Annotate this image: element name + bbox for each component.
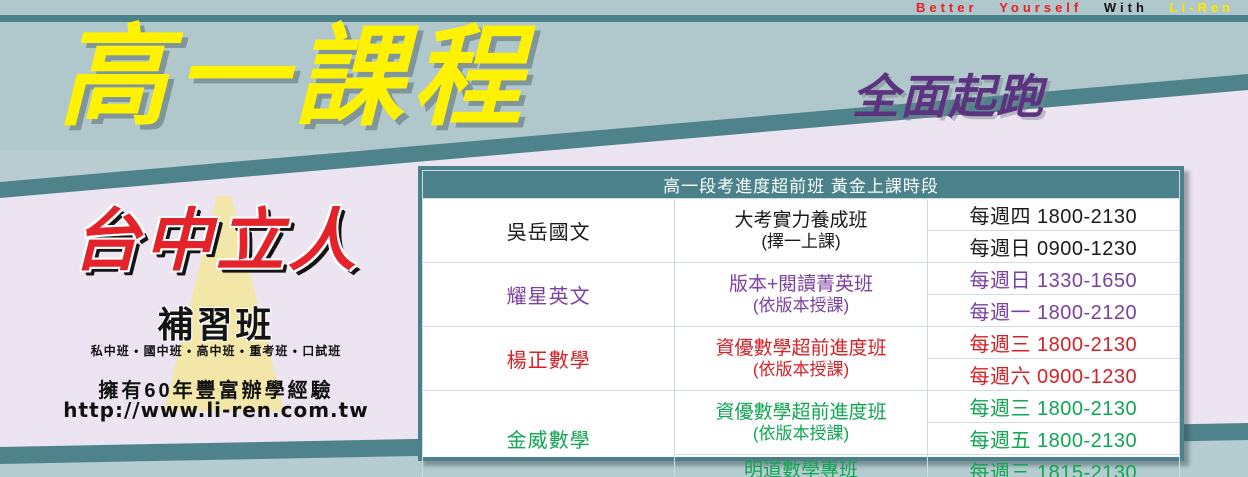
schedule-table-frame: 高一段考進度超前班 黃金上課時段 吳岳國文 大考實力養成班 (擇一上課) 每週四… (418, 166, 1184, 461)
poster-canvas: Better Yourself With Li-Ren 高一課程 全面起跑 台中… (0, 0, 1248, 477)
cell-time: 每週三 1800-2130 (927, 391, 1179, 423)
cell-course: 資優數學超前進度班 (依版本授課) (675, 327, 927, 391)
logo: 台中立人 補習班 私中班 • 國中班 • 高中班 • 重考班 • 口試班 擁有6… (36, 196, 396, 426)
logo-brand-name: 台中立人 (36, 206, 396, 277)
cell-teacher: 耀星英文 (423, 263, 675, 327)
tagline-word-with: With (1104, 0, 1148, 15)
cell-time: 每週一 1800-2120 (927, 295, 1179, 327)
course-note: (依版本授課) (676, 360, 925, 380)
table-header-title: 高一段考進度超前班 黃金上課時段 (423, 171, 1180, 199)
course-note: (依版本授課) (676, 296, 925, 316)
course-name: 版本+閱讀菁英班 (729, 274, 873, 295)
table-row: 耀星英文 版本+閱讀菁英班 (依版本授課) 每週日 1330-1650 (423, 263, 1180, 295)
table-row: 金威數學 資優數學超前進度班 (依版本授課) 每週三 1800-2130 (423, 391, 1180, 423)
cell-time: 每週日 1330-1650 (927, 263, 1179, 295)
cell-time: 每週三 1815-2130 (927, 455, 1179, 477)
cell-teacher: 楊正數學 (423, 327, 675, 391)
cell-course: 資優數學超前進度班 (依版本授課) (675, 391, 927, 455)
teacher-name: 耀星英文 (507, 286, 591, 308)
course-name: 資優數學超前進度班 (715, 338, 886, 359)
table-row: 吳岳國文 大考實力養成班 (擇一上課) 每週四 1800-2130 (423, 199, 1180, 231)
schedule-table: 高一段考進度超前班 黃金上課時段 吳岳國文 大考實力養成班 (擇一上課) 每週四… (422, 170, 1180, 477)
course-note: (擇一上課) (676, 232, 925, 252)
teacher-name: 吳岳國文 (507, 222, 591, 244)
page-subtitle: 全面起跑 (852, 72, 1044, 124)
cell-course: 明道數學專班 (675, 455, 927, 477)
teacher-name: 楊正數學 (507, 350, 591, 372)
cell-course: 大考實力養成班 (擇一上課) (675, 199, 927, 263)
cell-time: 每週三 1800-2130 (927, 327, 1179, 359)
tagline-word-better: Better (916, 0, 978, 15)
cell-time: 每週五 1800-2130 (927, 423, 1179, 455)
logo-class-list: 私中班 • 國中班 • 高中班 • 重考班 • 口試班 (36, 342, 396, 359)
teacher-name: 金威數學 (507, 430, 591, 452)
tagline-word-yourself: Yourself (999, 0, 1082, 15)
logo-brand-type: 補習班 (36, 296, 396, 348)
cell-teacher: 金威數學 (423, 391, 675, 477)
course-name: 大考實力養成班 (734, 210, 867, 231)
course-note: (依版本授課) (676, 424, 925, 444)
page-title: 高一課程 (58, 14, 530, 141)
cell-time: 每週六 0900-1230 (927, 359, 1179, 391)
cell-course: 版本+閱讀菁英班 (依版本授課) (675, 263, 927, 327)
tagline-word-liren: Li-Ren (1170, 0, 1234, 15)
logo-website-url: http://www.li-ren.com.tw (36, 398, 396, 422)
course-name: 資優數學超前進度班 (715, 402, 886, 423)
cell-teacher: 吳岳國文 (423, 199, 675, 263)
cell-time: 每週四 1800-2130 (927, 199, 1179, 231)
cell-time: 每週日 0900-1230 (927, 231, 1179, 263)
table-row: 楊正數學 資優數學超前進度班 (依版本授課) 每週三 1800-2130 (423, 327, 1180, 359)
table-header-row: 高一段考進度超前班 黃金上課時段 (423, 171, 1180, 199)
